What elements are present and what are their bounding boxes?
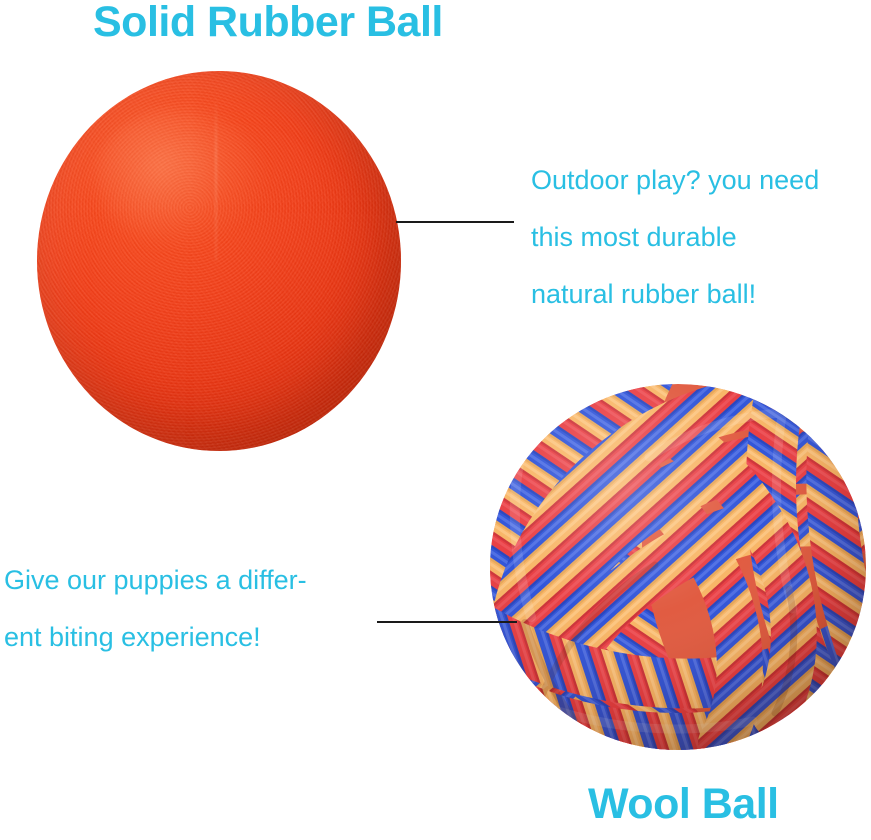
rubber-ball-leader-line — [396, 221, 514, 223]
rubber-specular-highlight — [95, 109, 262, 246]
wool-ball-caption-line-2: ent biting experience! — [4, 609, 307, 666]
wool-ball-caption-line-1: Give our puppies a differ- — [4, 552, 307, 609]
rubber-ball-caption: Outdoor play? you need this most durable… — [531, 152, 819, 323]
rubber-ball-caption-line-1: Outdoor play? you need — [531, 152, 819, 209]
wool-ball-leader-line — [377, 621, 517, 623]
wool-ball-caption: Give our puppies a differ- ent biting ex… — [4, 552, 307, 666]
solid-rubber-ball-image — [37, 71, 401, 451]
product-infographic: Solid Rubber Ball Outdoor play? you need… — [0, 0, 871, 840]
rubber-ball-caption-line-3: natural rubber ball! — [531, 266, 819, 323]
rubber-ball-caption-line-2: this most durable — [531, 209, 819, 266]
wool-rope-ball-image — [489, 379, 868, 753]
wool-ball-title: Wool Ball — [588, 780, 779, 829]
rubber-ball-title: Solid Rubber Ball — [93, 0, 443, 47]
